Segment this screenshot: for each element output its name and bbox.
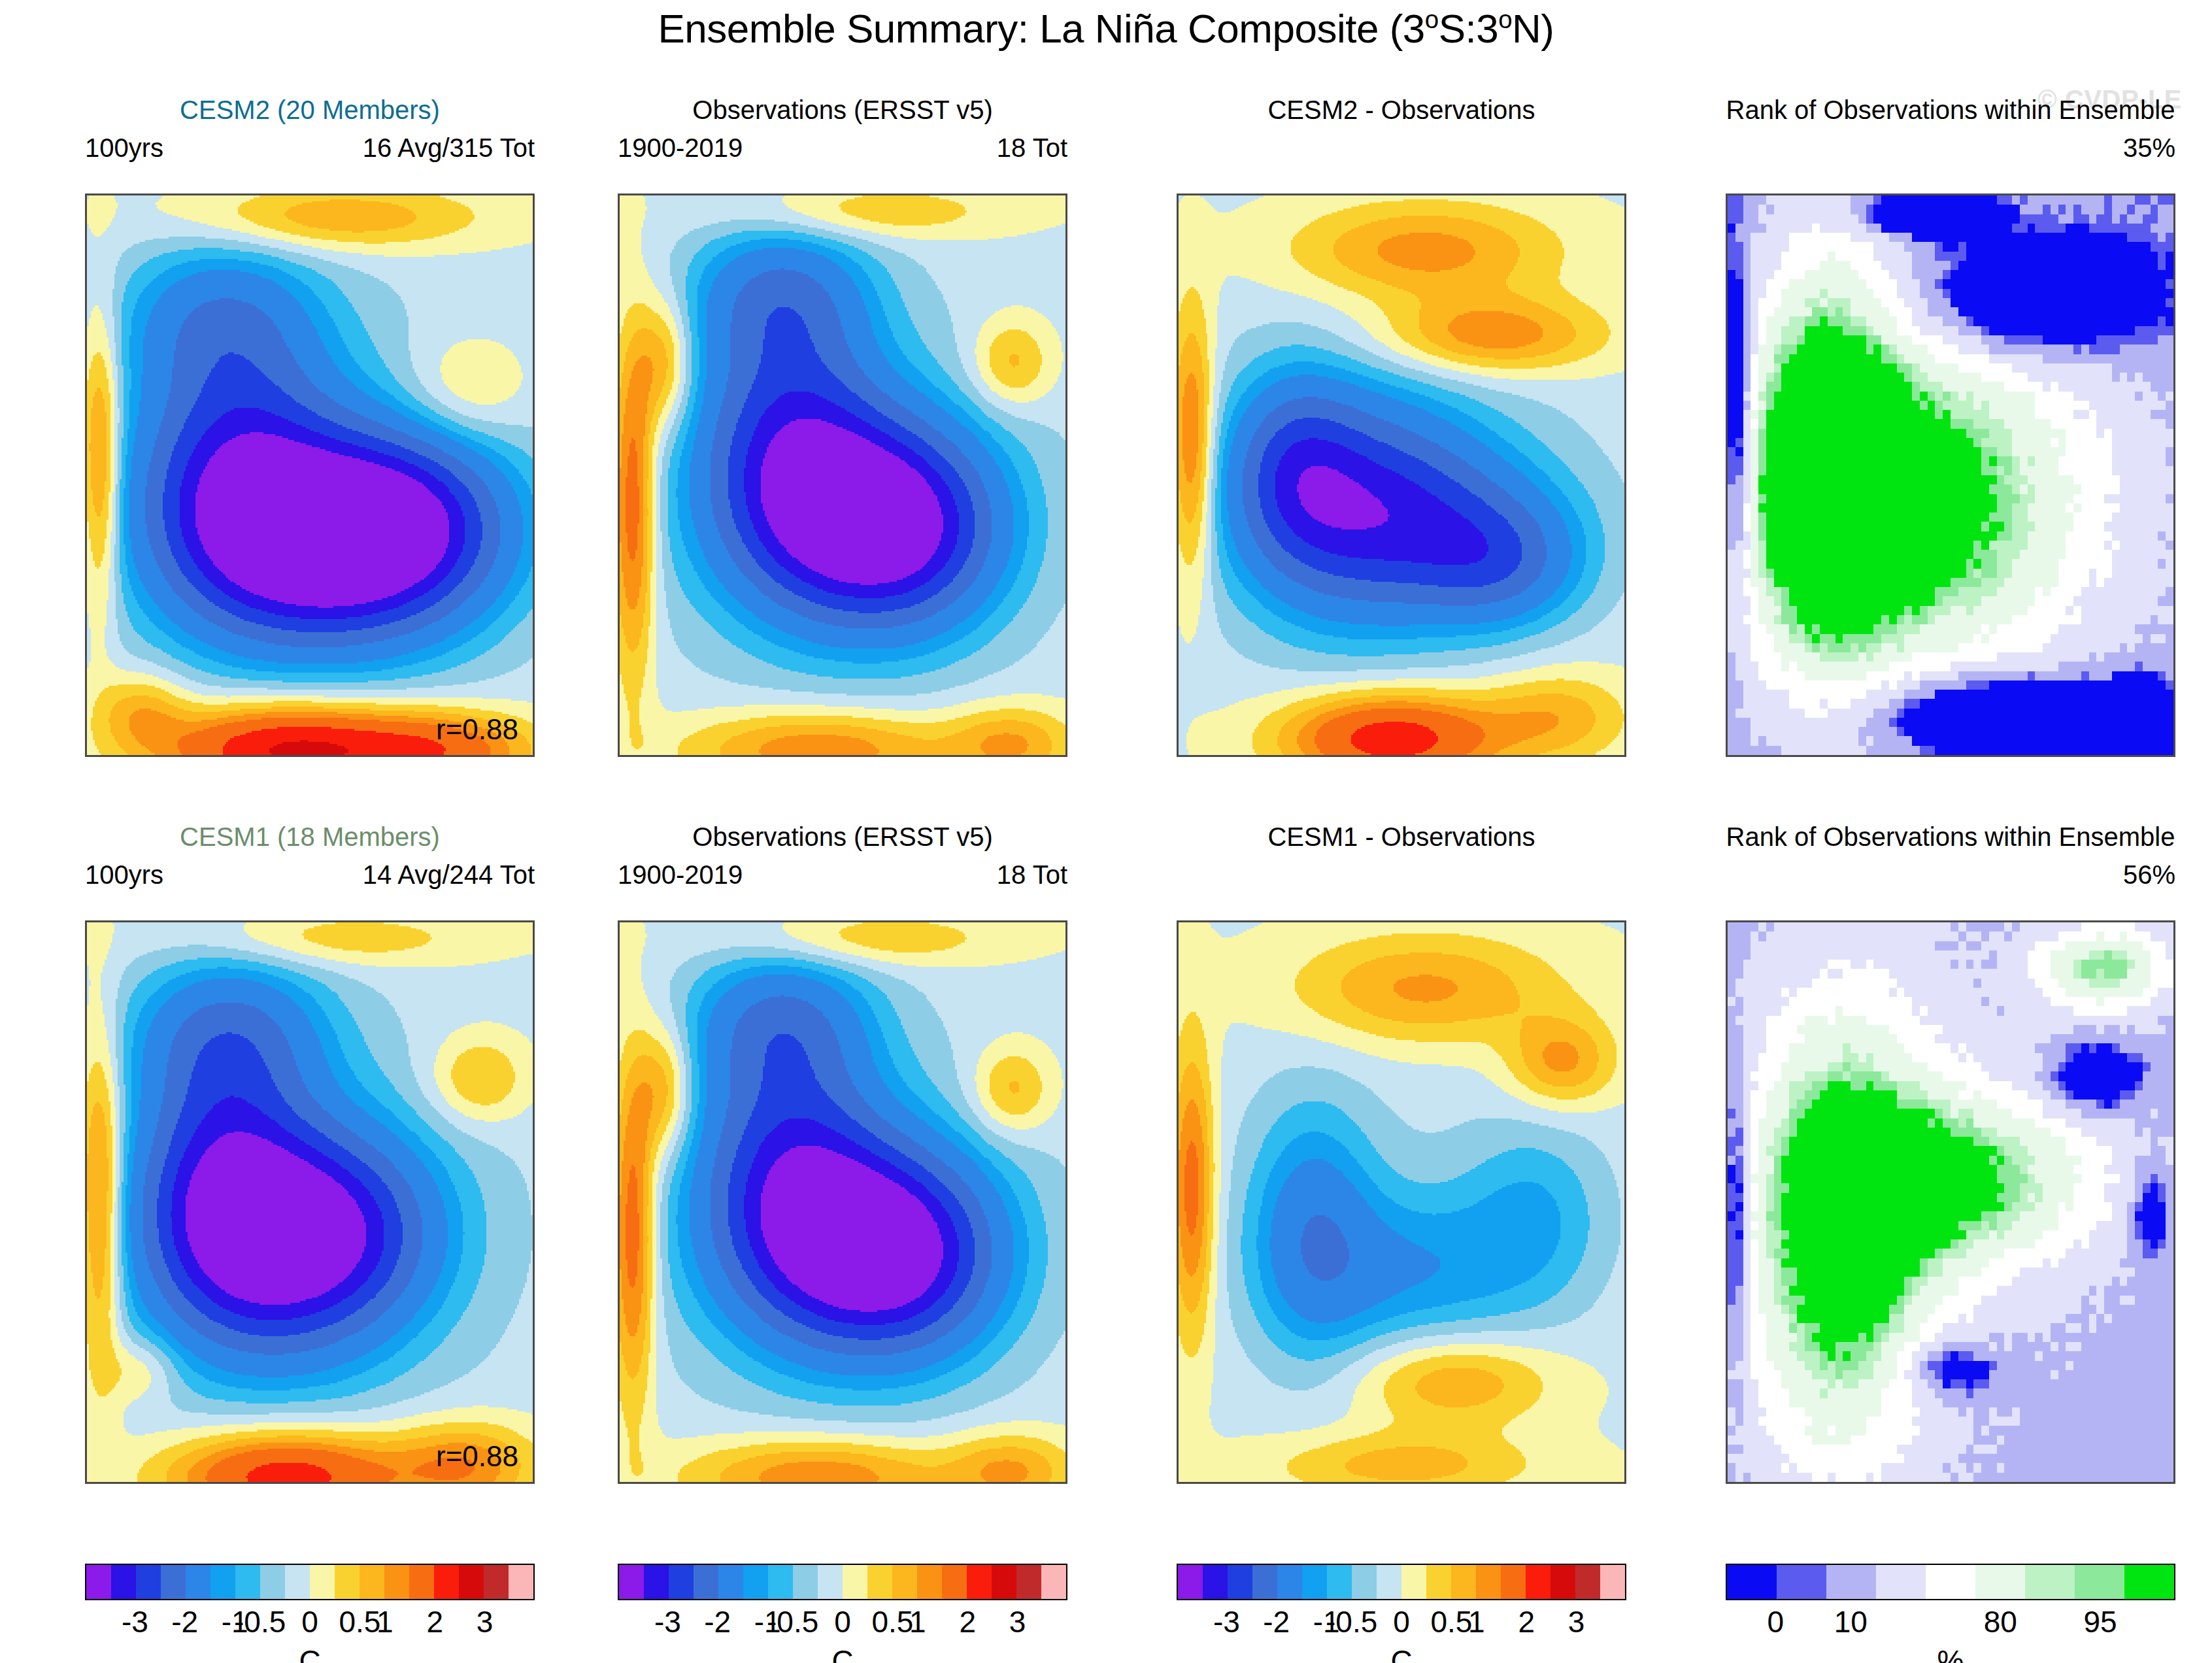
y-tick — [85, 1368, 87, 1369]
x-tick-major — [1922, 755, 1924, 757]
x-tick-major — [1298, 755, 1300, 757]
correlation-label: r=0.88 — [436, 713, 518, 746]
colorbar-swatch — [743, 1565, 768, 1599]
colorbar-swatch — [1476, 1565, 1501, 1599]
colorbar-swatch — [235, 1565, 260, 1599]
x-tick-major — [1039, 755, 1041, 757]
colorbar-swatch — [793, 1565, 818, 1599]
field-raster — [1728, 195, 2173, 755]
y-tick — [1177, 429, 1179, 431]
x-tick-major — [507, 755, 509, 757]
plot-area-rank-top: 120E150E180150W120W90W — [1726, 193, 2175, 757]
colorbar-swatch — [1401, 1565, 1426, 1599]
colorbar-swatch — [1377, 1565, 1401, 1599]
field-raster — [87, 195, 533, 755]
x-tick-major — [1373, 755, 1375, 757]
colorbar-tick-label: 10 — [1834, 1604, 1868, 1639]
field-raster — [620, 195, 1065, 755]
colorbar-swatches — [618, 1564, 1067, 1600]
y-tick — [1726, 1227, 1728, 1229]
x-tick-major — [1449, 1482, 1450, 1484]
colorbar-swatch — [1550, 1565, 1575, 1599]
x-tick-major — [964, 755, 966, 757]
y-tick — [618, 1368, 620, 1369]
colorbar-swatch — [1526, 1565, 1550, 1599]
colorbar-swatch — [86, 1565, 111, 1599]
panel-right-label: 35% — [2123, 133, 2175, 163]
colorbar-swatch — [111, 1565, 136, 1599]
y-tick — [1177, 641, 1179, 643]
x-tick-major — [739, 755, 741, 757]
plot-area-rank-bottom: 120E150E180150W120W90W — [1726, 920, 2175, 1484]
y-tick — [1726, 571, 1728, 573]
y-tick — [85, 1227, 87, 1229]
x-tick-major — [739, 1482, 741, 1484]
y-tick — [618, 1438, 620, 1440]
plot-area-obs-bottom: 120E150E180150W120W90W — [618, 920, 1067, 1484]
colorbar-tick-label: 0.5 — [1430, 1604, 1472, 1639]
colorbar-tick-label: 0 — [301, 1604, 318, 1639]
colorbar-sst-1: -3-2-1-0.500.5123C — [618, 1564, 1067, 1663]
x-tick-major — [1998, 755, 2000, 757]
y-tick — [1726, 429, 1728, 431]
y-tick — [1177, 218, 1179, 220]
panel-title: Rank of Observations within Ensemble — [1726, 822, 2175, 852]
y-tick — [618, 218, 620, 220]
colorbar-swatch — [1277, 1565, 1302, 1599]
colorbar-sst-0: -3-2-1-0.500.5123C — [85, 1564, 535, 1663]
x-tick-major — [890, 1482, 892, 1484]
y-tick — [1177, 1368, 1179, 1369]
colorbar-swatch — [818, 1565, 843, 1599]
colorbar-swatch — [967, 1565, 992, 1599]
y-tick — [1177, 1086, 1179, 1088]
x-tick-major — [2072, 755, 2074, 757]
y-tick — [618, 1086, 620, 1088]
figure-canvas: Ensemble Summary: La Niña Composite (3oS… — [0, 0, 2212, 1663]
colorbar-unit: C — [618, 1643, 1067, 1663]
colorbar-swatch — [1203, 1565, 1228, 1599]
panel-right-label: 16 Avg/315 Tot — [363, 133, 535, 163]
colorbar-swatch — [619, 1565, 644, 1599]
panel-left-label: 1900-2019 — [618, 860, 743, 890]
colorbar-swatch — [335, 1565, 360, 1599]
x-tick-major — [282, 1482, 284, 1484]
y-tick — [1177, 359, 1179, 361]
colorbar-swatch — [1926, 1565, 1975, 1599]
colorbar-tick-label: 1 — [377, 1604, 394, 1639]
colorbar-tick-label: -3 — [654, 1604, 681, 1639]
x-tick-major — [1847, 1482, 1849, 1484]
colorbar-tick-label: -3 — [1213, 1604, 1240, 1639]
colorbar-tick-label: 80 — [1984, 1604, 2017, 1639]
y-tick — [618, 1016, 620, 1018]
panel-right-label: 56% — [2123, 860, 2175, 890]
x-tick-major — [1773, 1482, 1775, 1484]
panel-title: Rank of Observations within Ensemble — [1726, 95, 2175, 125]
y-tick — [618, 711, 620, 713]
colorbar-swatch — [1777, 1565, 1826, 1599]
colorbar-swatch — [644, 1565, 669, 1599]
y-tick — [1726, 711, 1728, 713]
y-tick — [85, 1086, 87, 1088]
y-tick — [85, 359, 87, 361]
field-raster — [87, 922, 533, 1482]
colorbar-tick-label: 3 — [1568, 1604, 1585, 1639]
colorbar-swatch — [992, 1565, 1016, 1599]
x-tick-major — [665, 755, 667, 757]
y-tick — [618, 1227, 620, 1229]
panel-title: Observations (ERSST v5) — [618, 95, 1067, 125]
y-tick — [85, 945, 87, 947]
x-tick-major — [357, 1482, 359, 1484]
x-tick-major — [207, 1482, 209, 1484]
y-tick — [1177, 1156, 1179, 1158]
x-tick-major — [1998, 1482, 2000, 1484]
colorbar-swatch — [210, 1565, 235, 1599]
y-tick — [1726, 641, 1728, 643]
x-tick-major — [2147, 1482, 2149, 1484]
colorbar-swatch — [892, 1565, 917, 1599]
colorbar-swatches — [1726, 1564, 2175, 1600]
colorbar-swatch — [1501, 1565, 1526, 1599]
plot-area-cesm1-composite: r=0.88May+2Jan+2Sep+1May+1Jan+1SepoMayoJ… — [85, 920, 535, 1484]
y-tick — [85, 429, 87, 431]
panel-left-label: 100yrs — [85, 133, 163, 163]
x-tick-major — [890, 755, 892, 757]
colorbar-tick-label: 3 — [1009, 1604, 1026, 1639]
colorbar-swatch — [2124, 1565, 2174, 1599]
plot-area-cesm2-minus-obs: 120E150E180150W120W90W — [1177, 193, 1626, 757]
colorbar-swatch — [1228, 1565, 1252, 1599]
panel-left-label: 1900-2019 — [618, 133, 743, 163]
panel-title: CESM1 - Observations — [1177, 822, 1626, 852]
colorbar-swatches — [1177, 1564, 1626, 1600]
y-tick — [1726, 289, 1728, 291]
x-tick-major — [132, 755, 134, 757]
colorbar-unit: C — [1177, 1643, 1626, 1663]
y-tick — [85, 1016, 87, 1018]
y-tick — [1177, 711, 1179, 713]
y-tick — [618, 641, 620, 643]
colorbar-swatches — [85, 1564, 535, 1600]
panel-title: Observations (ERSST v5) — [618, 822, 1067, 852]
colorbar-swatch — [1727, 1565, 1777, 1599]
field-raster — [1179, 922, 1624, 1482]
y-tick — [1726, 1438, 1728, 1440]
y-tick — [1177, 571, 1179, 573]
y-tick — [1726, 218, 1728, 220]
panel-title: CESM2 - Observations — [1177, 95, 1626, 125]
colorbar-tick-label: -2 — [704, 1604, 731, 1639]
colorbar-swatch — [161, 1565, 186, 1599]
x-tick-major — [1773, 755, 1775, 757]
colorbar-swatch — [509, 1565, 533, 1599]
x-tick-major — [431, 1482, 433, 1484]
colorbar-swatch — [384, 1565, 409, 1599]
y-tick — [1177, 1016, 1179, 1018]
colorbar-tick-label: -2 — [1263, 1604, 1290, 1639]
x-tick-major — [1523, 1482, 1525, 1484]
y-tick — [85, 1438, 87, 1440]
colorbar-sst-2: -3-2-1-0.500.5123C — [1177, 1564, 1626, 1663]
colorbar-tick-label: 2 — [959, 1604, 976, 1639]
x-tick-major — [1598, 755, 1600, 757]
x-tick-major — [1523, 755, 1525, 757]
x-tick-major — [814, 755, 816, 757]
colorbar-swatch — [310, 1565, 335, 1599]
colorbar-swatch — [1426, 1565, 1451, 1599]
y-tick — [1726, 500, 1728, 502]
colorbar-unit: C — [85, 1643, 535, 1663]
colorbar-swatch — [434, 1565, 459, 1599]
colorbar-swatch — [867, 1565, 892, 1599]
x-tick-major — [357, 755, 359, 757]
colorbar-tick-label: 0 — [834, 1604, 851, 1639]
x-tick-major — [282, 755, 284, 757]
colorbar-swatch — [2075, 1565, 2124, 1599]
y-tick — [1177, 1298, 1179, 1300]
panel-left-label: 100yrs — [85, 860, 163, 890]
y-tick — [1726, 945, 1728, 947]
y-tick — [618, 429, 620, 431]
colorbar-swatch — [260, 1565, 285, 1599]
colorbar-tick-label: 3 — [477, 1604, 494, 1639]
field-raster — [620, 922, 1065, 1482]
x-tick-major — [814, 1482, 816, 1484]
y-tick — [618, 571, 620, 573]
correlation-label: r=0.88 — [436, 1440, 518, 1473]
y-tick — [85, 571, 87, 573]
y-tick — [85, 1298, 87, 1300]
colorbar-tick-label: 2 — [1518, 1604, 1535, 1639]
y-tick — [618, 945, 620, 947]
x-tick-major — [2147, 755, 2149, 757]
colorbar-swatch — [768, 1565, 793, 1599]
colorbar-swatch — [1327, 1565, 1352, 1599]
colorbar-tick-label: 1 — [1468, 1604, 1485, 1639]
colorbar-swatch — [942, 1565, 967, 1599]
colorbar-tick-label: -0.5 — [767, 1604, 818, 1639]
colorbar-tick-label: 2 — [426, 1604, 443, 1639]
y-tick — [85, 218, 87, 220]
y-tick — [1177, 500, 1179, 502]
x-tick-major — [964, 1482, 966, 1484]
y-tick — [1726, 1298, 1728, 1300]
colorbar-swatch — [1252, 1565, 1277, 1599]
y-tick — [1726, 1016, 1728, 1018]
colorbar-tick-label: -2 — [171, 1604, 198, 1639]
x-tick-major — [1922, 1482, 1924, 1484]
colorbar-swatch — [1178, 1565, 1203, 1599]
colorbar-swatch — [1975, 1565, 2025, 1599]
y-tick — [618, 289, 620, 291]
y-tick — [618, 1156, 620, 1158]
colorbar-tick-label: -0.5 — [1326, 1604, 1377, 1639]
y-tick — [1177, 1438, 1179, 1440]
y-tick — [1726, 1156, 1728, 1158]
colorbar-swatch — [1041, 1565, 1066, 1599]
colorbar-swatch — [136, 1565, 161, 1599]
y-tick — [1726, 359, 1728, 361]
x-tick-major — [1598, 1482, 1600, 1484]
colorbar-unit: % — [1726, 1643, 2175, 1663]
y-tick — [85, 500, 87, 502]
field-raster — [1179, 195, 1624, 755]
x-tick-major — [665, 1482, 667, 1484]
colorbar-swatch — [360, 1565, 384, 1599]
colorbar-swatch — [2025, 1565, 2075, 1599]
colorbar-swatch — [1352, 1565, 1377, 1599]
colorbar-swatch — [484, 1565, 509, 1599]
colorbar-tick-label: 0 — [1393, 1604, 1410, 1639]
colorbar-swatch — [459, 1565, 484, 1599]
x-tick-major — [1847, 755, 1849, 757]
y-tick — [618, 500, 620, 502]
x-tick-major — [1224, 1482, 1226, 1484]
colorbar-swatch — [669, 1565, 694, 1599]
colorbar-rank-3: 0108095% — [1726, 1564, 2175, 1663]
panel-right-label: 18 Tot — [997, 860, 1067, 890]
x-tick-major — [2072, 1482, 2074, 1484]
colorbar-tick-label: 0 — [1768, 1604, 1785, 1639]
colorbar-swatch — [1016, 1565, 1041, 1599]
y-tick — [618, 359, 620, 361]
panel-title: CESM2 (20 Members) — [85, 95, 535, 125]
colorbar-swatch — [694, 1565, 718, 1599]
colorbar-swatch — [1600, 1565, 1625, 1599]
colorbar-swatch — [718, 1565, 743, 1599]
x-tick-major — [507, 1482, 509, 1484]
x-tick-major — [1373, 1482, 1375, 1484]
x-tick-major — [1039, 1482, 1041, 1484]
y-tick — [85, 641, 87, 643]
colorbar-tick-label: 0.5 — [871, 1604, 913, 1639]
colorbar-swatch — [1826, 1565, 1876, 1599]
plot-area-cesm2-composite: r=0.88May+2Jan+2Sep+1May+1Jan+1SepoMayoJ… — [85, 193, 535, 757]
x-tick-major — [1224, 755, 1226, 757]
y-tick — [1177, 945, 1179, 947]
y-tick — [618, 1298, 620, 1300]
panel-right-label: 18 Tot — [997, 133, 1067, 163]
colorbar-swatch — [1451, 1565, 1476, 1599]
figure-title: Ensemble Summary: La Niña Composite (3oS… — [0, 5, 2212, 52]
plot-area-obs-top: 120E150E180150W120W90W — [618, 193, 1067, 757]
x-tick-major — [132, 1482, 134, 1484]
panel-title: CESM1 (18 Members) — [85, 822, 535, 852]
colorbar-swatch — [1575, 1565, 1600, 1599]
panel-right-label: 14 Avg/244 Tot — [363, 860, 535, 890]
colorbar-tick-label: 95 — [2084, 1604, 2117, 1639]
colorbar-tick-label: 0.5 — [339, 1604, 380, 1639]
x-tick-major — [431, 755, 433, 757]
colorbar-swatch — [409, 1565, 434, 1599]
colorbar-swatch — [1876, 1565, 1926, 1599]
plot-area-cesm1-minus-obs: 120E150E180150W120W90W — [1177, 920, 1626, 1484]
colorbar-swatch — [843, 1565, 867, 1599]
colorbar-tick-label: -3 — [122, 1604, 148, 1639]
y-tick — [85, 711, 87, 713]
colorbar-swatch — [186, 1565, 210, 1599]
colorbar-tick-label: 1 — [909, 1604, 926, 1639]
colorbar-tick-label: -0.5 — [234, 1604, 286, 1639]
y-tick — [1726, 1368, 1728, 1369]
y-tick — [1177, 1227, 1179, 1229]
x-tick-major — [207, 755, 209, 757]
y-tick — [85, 1156, 87, 1158]
colorbar-swatch — [1302, 1565, 1327, 1599]
colorbar-swatch — [285, 1565, 310, 1599]
y-tick — [1726, 1086, 1728, 1088]
colorbar-swatch — [917, 1565, 942, 1599]
y-tick — [85, 289, 87, 291]
x-tick-major — [1298, 1482, 1300, 1484]
x-tick-major — [1449, 755, 1450, 757]
field-raster — [1728, 922, 2173, 1482]
y-tick — [1177, 289, 1179, 291]
